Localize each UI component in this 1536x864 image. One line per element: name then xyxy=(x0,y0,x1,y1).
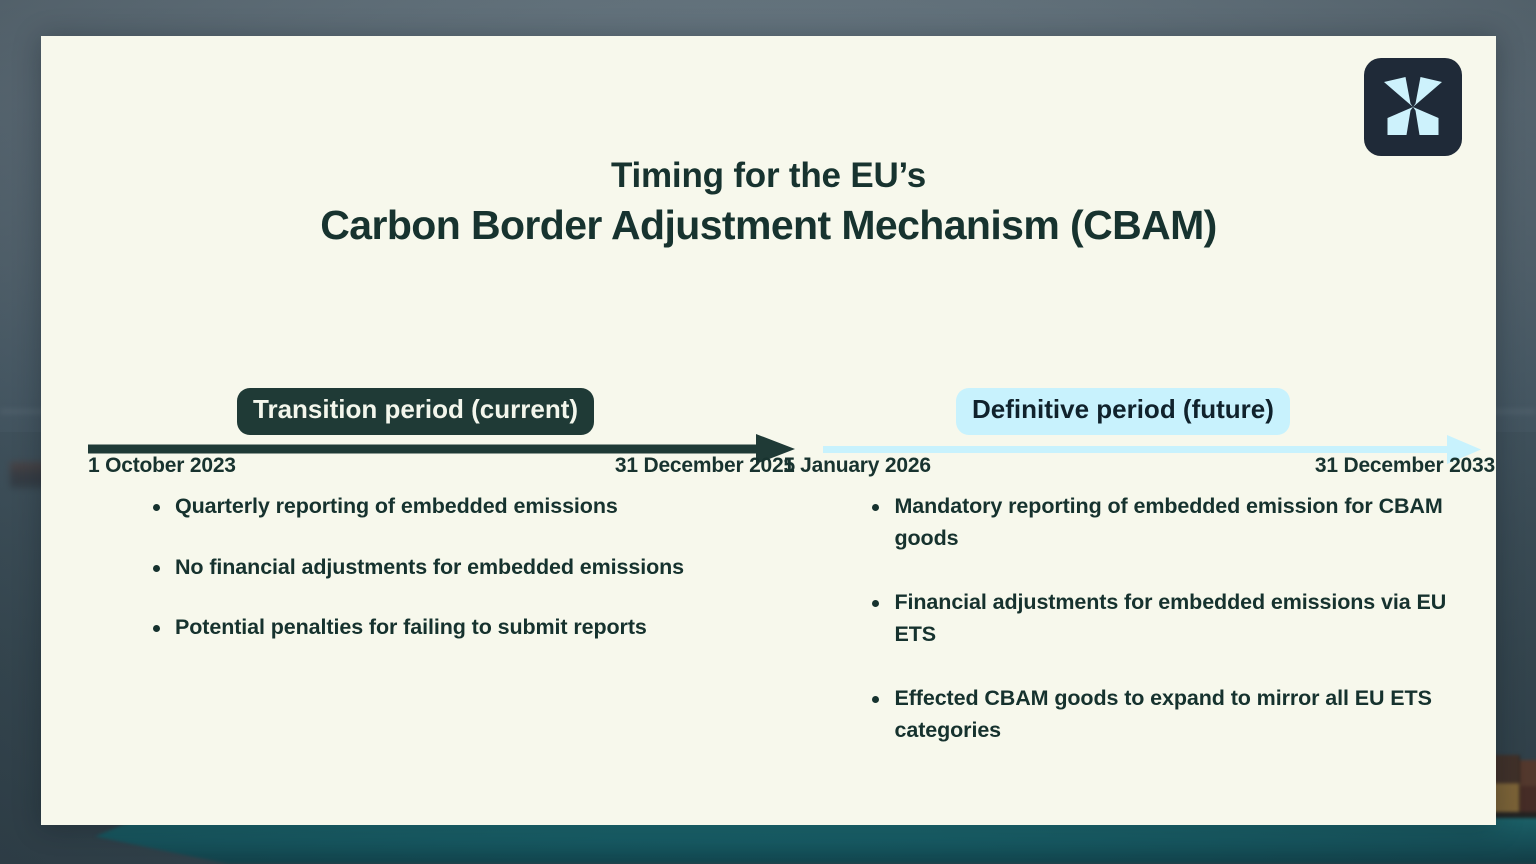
slide-card: Timing for the EU’s Carbon Border Adjust… xyxy=(41,36,1496,825)
list-item: Potential penalties for failing to submi… xyxy=(149,612,760,644)
date-start-definitive: 1 January 2026 xyxy=(783,454,931,478)
bullet-list-definitive: Mandatory reporting of embedded emission… xyxy=(780,491,1496,780)
timeline-dates-transition: 1 October 2023 31 December 2025 xyxy=(88,454,795,478)
timeline: Transition period (current) 1 October 20… xyxy=(41,376,1496,496)
date-end-definitive: 31 December 2033 xyxy=(1315,454,1495,478)
page-title: Timing for the EU’s Carbon Border Adjust… xyxy=(41,154,1496,253)
date-start-transition: 1 October 2023 xyxy=(88,454,236,478)
timeline-dates-definitive: 1 January 2026 31 December 2033 xyxy=(781,454,1497,478)
bullet-list-transition: Quarterly reporting of embedded emission… xyxy=(41,491,780,780)
title-line-2: Carbon Border Adjustment Mechanism (CBAM… xyxy=(41,199,1496,252)
pill-label-definitive: Definitive period (future) xyxy=(956,388,1290,435)
timeline-phase-transition: Transition period (current) 1 October 20… xyxy=(88,376,795,496)
list-item: Financial adjustments for embedded emiss… xyxy=(868,587,1456,650)
title-line-1: Timing for the EU’s xyxy=(41,154,1496,197)
date-end-transition: 31 December 2025 xyxy=(615,454,795,478)
list-item: No financial adjustments for embedded em… xyxy=(149,552,760,584)
list-item: Mandatory reporting of embedded emission… xyxy=(868,491,1456,554)
list-item: Effected CBAM goods to expand to mirror … xyxy=(868,683,1456,746)
butterfly-logo-icon xyxy=(1364,58,1462,156)
detail-columns: Quarterly reporting of embedded emission… xyxy=(41,491,1496,780)
list-item: Quarterly reporting of embedded emission… xyxy=(149,491,760,523)
timeline-phase-definitive: Definitive period (future) 1 January 202… xyxy=(781,376,1497,496)
pill-label-transition: Transition period (current) xyxy=(237,388,594,435)
